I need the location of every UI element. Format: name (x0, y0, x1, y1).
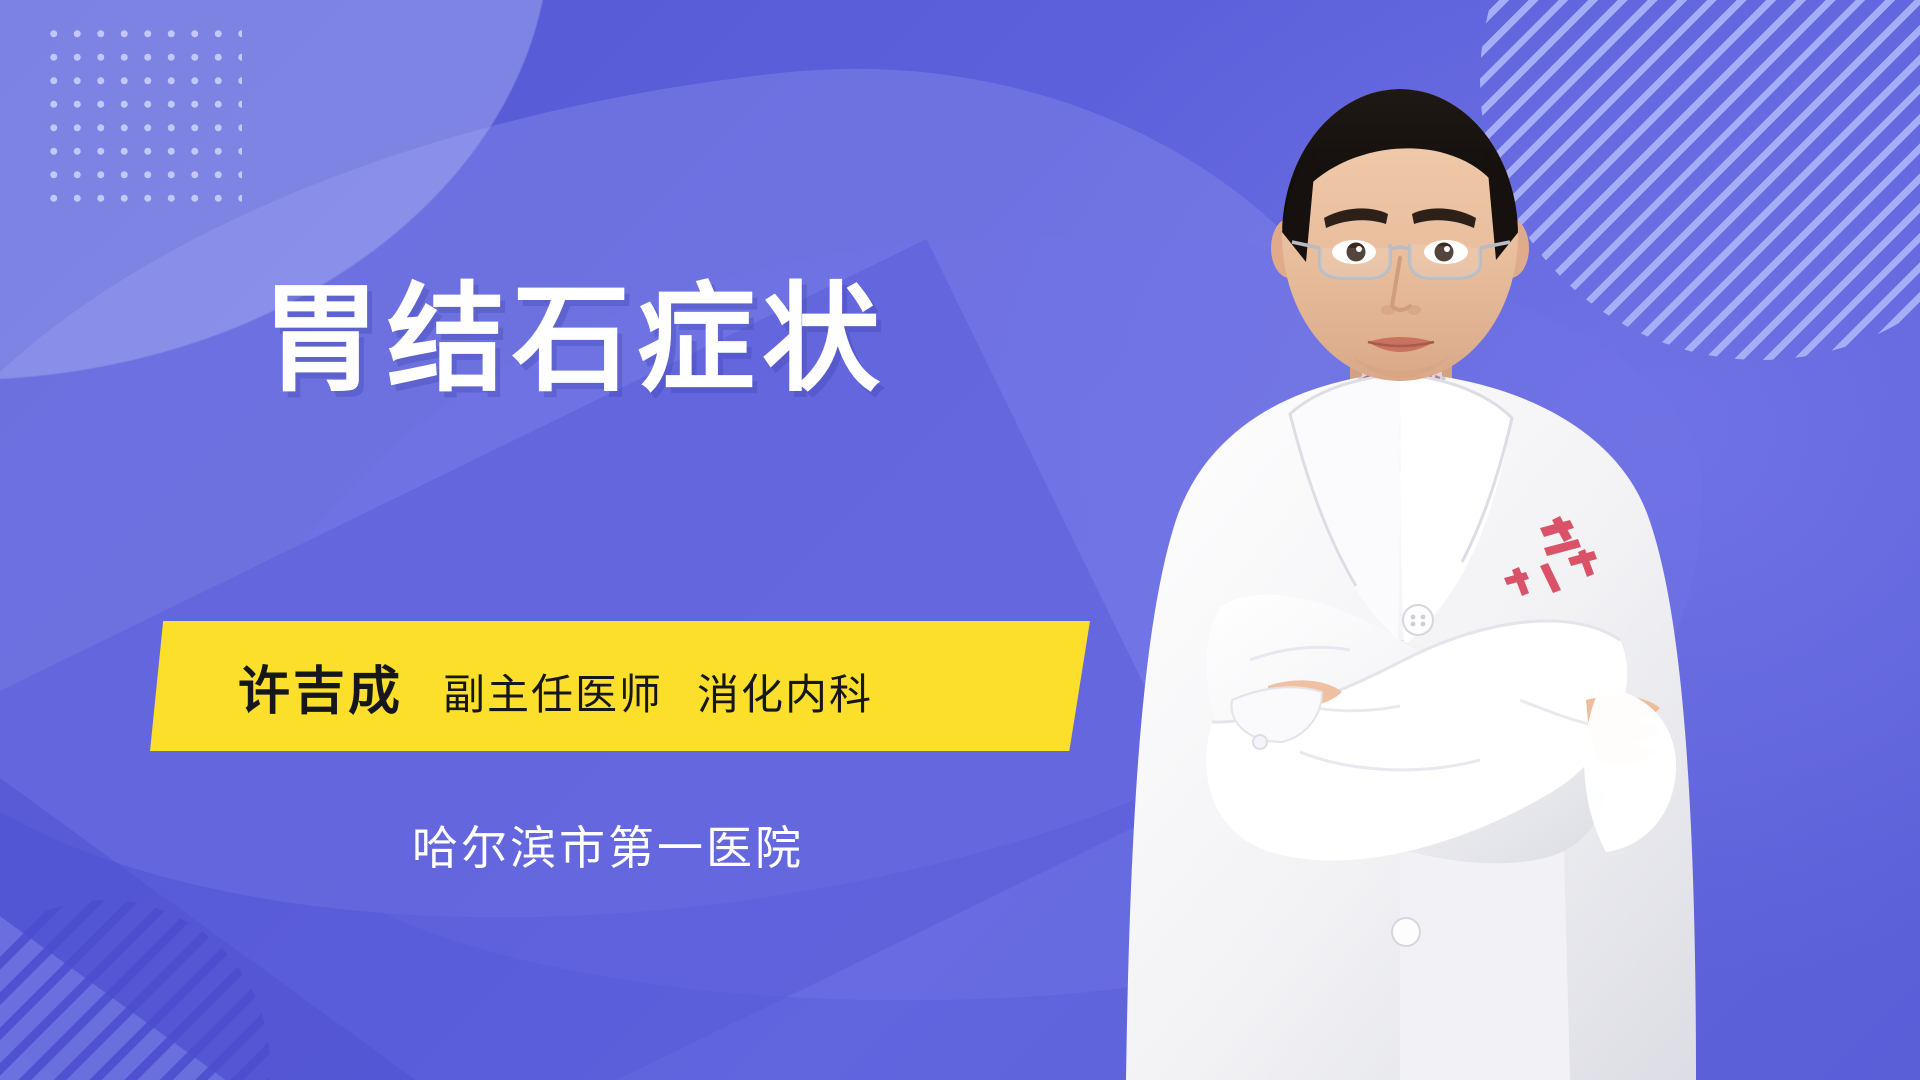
doctor-credentials-banner: 许吉成 副主任医师 消化内科 (150, 621, 1090, 751)
doctor-name: 许吉成 (238, 649, 403, 724)
doctor-department: 消化内科 (697, 661, 873, 722)
page-title: 胃结石症状 (262, 279, 887, 403)
doctor-title-rank: 副主任医师 (443, 661, 663, 722)
doctor-portrait (1100, 0, 1920, 1080)
hospital-name: 哈尔滨市第一医院 (412, 812, 804, 878)
poster-content: 胃结石症状 许吉成 副主任医师 消化内科 哈尔滨市第一医院 (0, 0, 1200, 1080)
poster-card: 胃结石症状 许吉成 副主任医师 消化内科 哈尔滨市第一医院 (0, 0, 1920, 1080)
doctor-credentials-inner: 许吉成 副主任医师 消化内科 (150, 649, 873, 724)
